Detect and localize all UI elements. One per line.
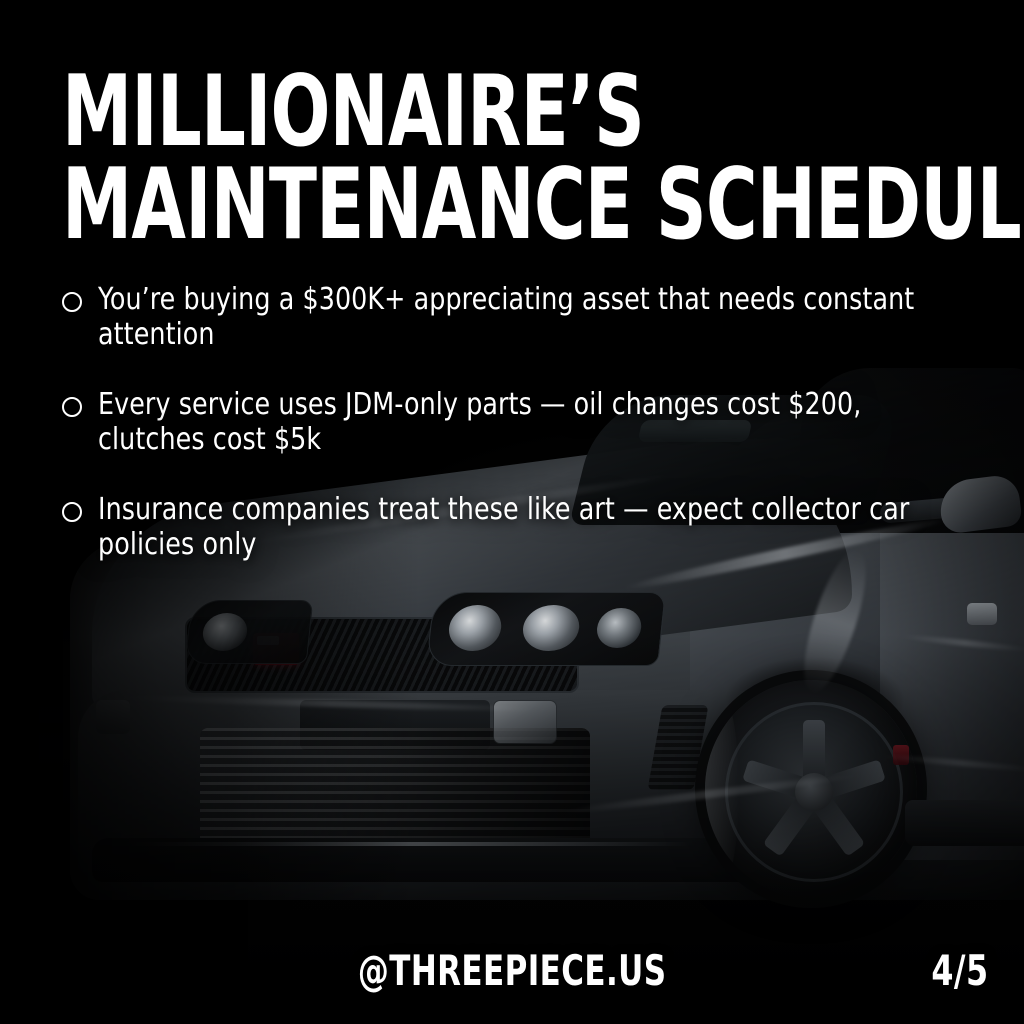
circle-outline-bullet-icon bbox=[62, 292, 82, 312]
circle-outline-bullet-icon bbox=[62, 397, 82, 417]
page-counter-text: 4/5 bbox=[932, 946, 989, 995]
social-carousel-slide: MILLIONAIRE’S MAINTENANCE SCHEDULE You’r… bbox=[0, 0, 1024, 1024]
list-item: You’re buying a $300K+ appreciating asse… bbox=[62, 282, 972, 353]
circle-outline-bullet-icon bbox=[62, 502, 82, 522]
list-item-text: You’re buying a $300K+ appreciating asse… bbox=[98, 282, 920, 353]
slide-footer: @THREEPIECE.US 4/5 bbox=[0, 946, 1024, 1002]
account-handle: @THREEPIECE.US bbox=[0, 946, 1024, 995]
page-counter: 4/5 bbox=[926, 946, 994, 995]
headline-line-2: MAINTENANCE SCHEDULE bbox=[62, 159, 806, 252]
headline: MILLIONAIRE’S MAINTENANCE SCHEDULE bbox=[62, 66, 992, 252]
slide-content: MILLIONAIRE’S MAINTENANCE SCHEDULE You’r… bbox=[0, 0, 1024, 1024]
list-item-text: Every service uses JDM-only parts — oil … bbox=[98, 387, 920, 458]
bullet-list: You’re buying a $300K+ appreciating asse… bbox=[62, 282, 972, 596]
list-item: Every service uses JDM-only parts — oil … bbox=[62, 387, 972, 458]
account-handle-text: @THREEPIECE.US bbox=[358, 946, 667, 995]
headline-line-1: MILLIONAIRE’S bbox=[62, 66, 806, 159]
list-item-text: Insurance companies treat these like art… bbox=[98, 492, 920, 563]
list-item: Insurance companies treat these like art… bbox=[62, 492, 972, 563]
